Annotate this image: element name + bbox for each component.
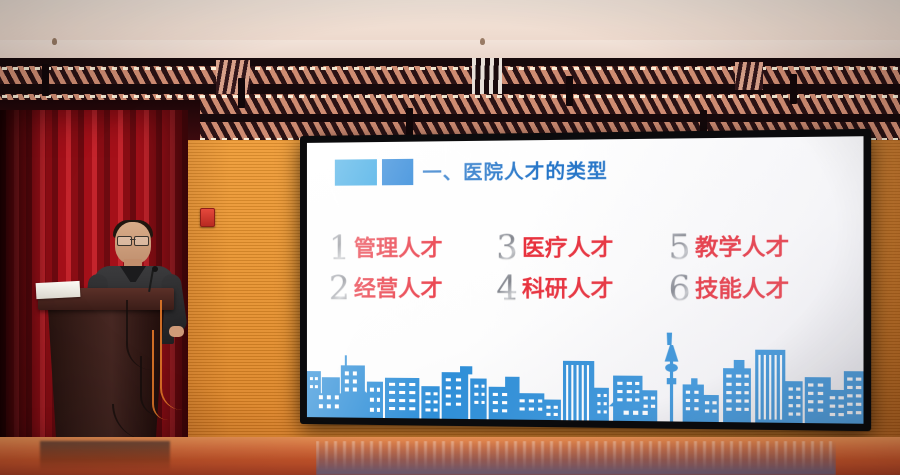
slide-canvas: 一、医院人才的类型 1 管理人才 3 医疗人才 5 教学人才	[307, 136, 864, 424]
list-item: 6 技能人才	[669, 266, 842, 308]
slide-title: 一、医院人才的类型	[422, 156, 607, 185]
glasses-lens-left	[117, 236, 132, 246]
item-label: 管理人才	[354, 230, 443, 263]
rigging-bracket	[238, 78, 245, 108]
rigging-bracket	[790, 74, 797, 104]
item-number: 1	[329, 230, 350, 263]
item-number: 3	[496, 230, 518, 264]
list-item: 4 科研人才	[496, 267, 664, 308]
ceiling-light-strip	[0, 67, 900, 70]
glasses-lens-right	[134, 236, 149, 246]
truss-cross-slat	[472, 58, 502, 94]
item-number: 6	[669, 270, 691, 304]
conference-hall-photo: 一、医院人才的类型 1 管理人才 3 医疗人才 5 教学人才	[0, 0, 900, 475]
list-item: 5 教学人才	[669, 224, 842, 266]
screen-bezel: 一、医院人才的类型 1 管理人才 3 医疗人才 5 教学人才	[300, 129, 871, 431]
screen-reflection-detail	[316, 441, 836, 471]
list-item: 2 经营人才	[329, 267, 492, 308]
ceiling-fixture-icon	[480, 38, 485, 45]
city-skyline-graphic	[307, 319, 864, 424]
item-number: 5	[669, 229, 691, 263]
ceiling-fixture-icon	[52, 38, 57, 45]
speech-notes	[36, 281, 81, 299]
glasses-icon	[117, 236, 149, 244]
fire-alarm-icon	[200, 208, 215, 227]
item-label: 科研人才	[522, 271, 614, 304]
accent-block-large	[335, 159, 377, 186]
truss-cross-slat	[735, 62, 763, 90]
talent-type-list: 1 管理人才 3 医疗人才 5 教学人才 2 经营人才	[329, 224, 842, 308]
lectern-reflection	[40, 441, 170, 471]
accent-block-small	[382, 158, 413, 185]
rigging-bracket	[42, 64, 49, 96]
ceiling-light-strip	[0, 95, 900, 98]
microphone-icon	[152, 266, 158, 272]
item-label: 医疗人才	[522, 230, 614, 263]
power-cable	[152, 330, 168, 420]
list-item: 3 医疗人才	[496, 225, 664, 266]
slide-title-row: 一、医院人才的类型	[335, 156, 608, 186]
item-number: 4	[496, 270, 518, 304]
led-screen[interactable]: 一、医院人才的类型 1 管理人才 3 医疗人才 5 教学人才	[300, 129, 871, 431]
list-item: 1 管理人才	[329, 226, 492, 267]
rigging-bracket	[566, 76, 573, 106]
item-label: 经营人才	[354, 271, 443, 303]
item-label: 教学人才	[695, 229, 789, 263]
item-number: 2	[329, 270, 350, 303]
item-label: 技能人才	[695, 271, 789, 304]
